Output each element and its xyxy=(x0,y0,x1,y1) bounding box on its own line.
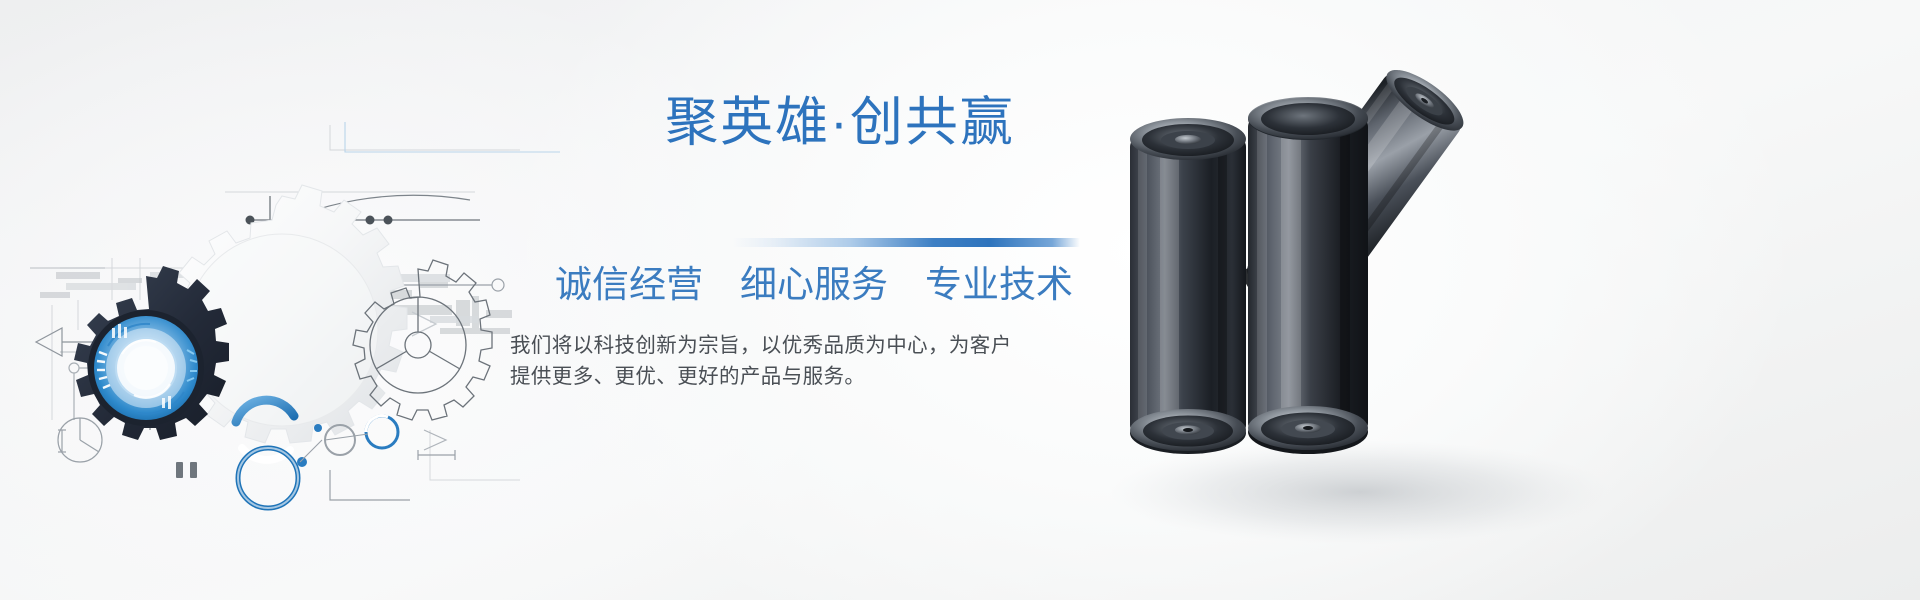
description-line-2: 提供更多、更优、更好的产品与服务。 xyxy=(510,361,1070,392)
description-paragraph: 我们将以科技创新为宗旨，以优秀品质为中心，为客户 提供更多、更优、更好的产品与服… xyxy=(510,330,1070,392)
page-title: 聚英雄·创共赢 xyxy=(500,96,1080,149)
subtitle: 诚信经营 细心服务 专业技术 xyxy=(500,266,1080,303)
gradient-divider-bar xyxy=(732,238,1080,247)
hero-banner: 聚英雄·创共赢 诚信经营 细心服务 专业技术 我们将以科技创新为宗旨，以优秀品质… xyxy=(0,0,1920,600)
headline-block: 聚英雄·创共赢 诚信经营 细心服务 专业技术 我们将以科技创新为宗旨，以优秀品质… xyxy=(500,96,1080,396)
description-line-1: 我们将以科技创新为宗旨，以优秀品质为中心，为客户 xyxy=(510,330,1070,361)
conveyor-rollers-product-photo xyxy=(1090,40,1650,560)
gears-technology-illustration xyxy=(0,0,560,600)
